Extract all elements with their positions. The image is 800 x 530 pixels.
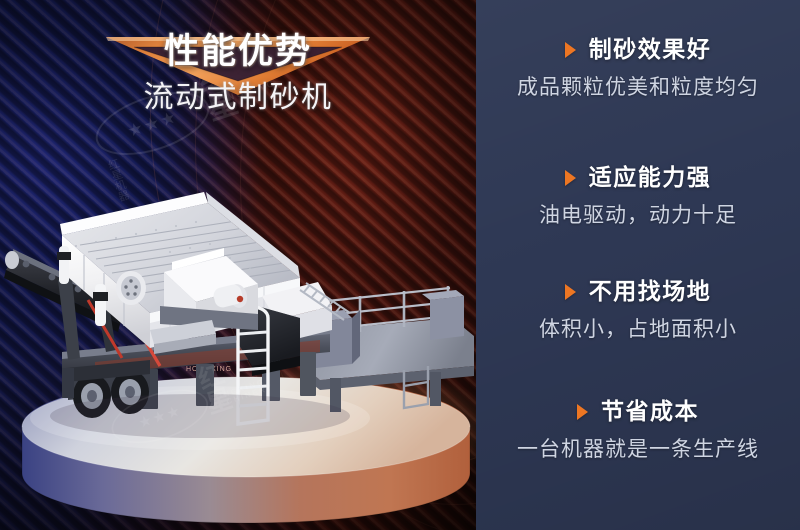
- feature-item-3: 不用找场地 体积小，占地面积小: [476, 278, 800, 343]
- feature-heading: 节省成本: [577, 398, 699, 426]
- feature-item-1: 制砂效果好 成品颗粒优美和粒度均匀: [476, 36, 800, 101]
- hero-title-main: 性能优势: [104, 31, 372, 72]
- feature-description: 体积小，占地面积小: [476, 317, 800, 343]
- feature-panel: ★★★ 红星 HONGXING MACHINERY ★★★ 红星 HONGXIN…: [476, 0, 800, 530]
- triangle-right-icon: [565, 170, 576, 186]
- feature-heading: 适应能力强: [565, 164, 712, 192]
- triangle-right-icon: [565, 284, 576, 300]
- hero-title-sub: 流动式制砂机: [94, 80, 382, 116]
- feature-title: 适应能力强: [589, 164, 712, 192]
- triangle-right-icon: [577, 404, 588, 420]
- feature-description: 油电驱动，动力十足: [476, 203, 800, 229]
- feature-title: 不用找场地: [589, 278, 712, 306]
- feature-list: 制砂效果好 成品颗粒优美和粒度均匀 适应能力强 油电驱动，动力十足 不用找场地 …: [476, 0, 800, 530]
- feature-title: 制砂效果好: [589, 36, 712, 64]
- feature-item-4: 节省成本 一台机器就是一条生产线: [476, 398, 800, 463]
- feature-heading: 不用找场地: [565, 278, 712, 306]
- promo-banner-canvas: ★★★ 红星 HONGXING 红星机器: [0, 0, 800, 530]
- feature-description: 成品颗粒优美和粒度均匀: [476, 75, 800, 101]
- triangle-right-icon: [565, 42, 576, 58]
- feature-item-2: 适应能力强 油电驱动，动力十足: [476, 164, 800, 229]
- feature-description: 一台机器就是一条生产线: [476, 437, 800, 463]
- hero-panel: ★★★ 红星 HONGXING 红星机器: [0, 0, 476, 530]
- feature-heading: 制砂效果好: [565, 36, 712, 64]
- feature-title: 节省成本: [601, 398, 699, 426]
